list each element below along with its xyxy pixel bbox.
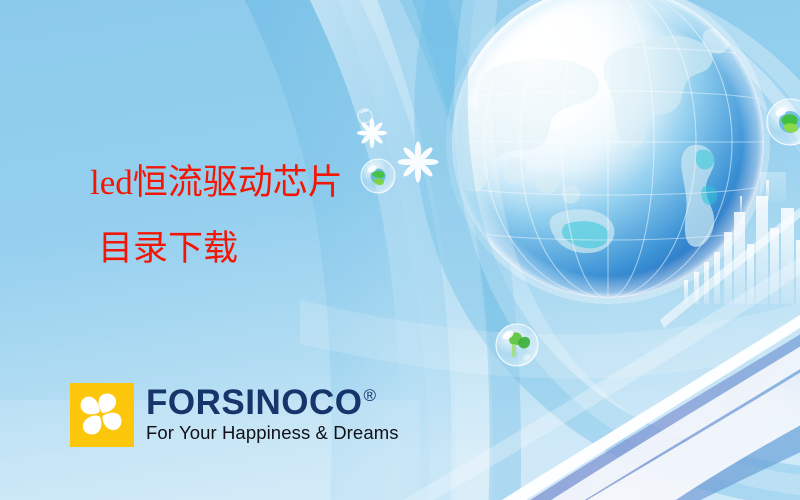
logo-wordmark-block: FORSINOCO ® For Your Happiness & Dreams [146, 383, 399, 444]
bubble-globe-small [361, 159, 395, 193]
logo-name-row: FORSINOCO ® [146, 386, 399, 419]
bubble-tree [496, 324, 538, 366]
registered-trademark-icon: ® [363, 387, 376, 404]
brand-logo-lockup: FORSINOCO ® For Your Happiness & Dreams [70, 383, 399, 447]
banner-canvas: led恒流驱动芯片 目录下载 FORSINOCO ® For Your Hap [0, 0, 800, 500]
logo-company-name: FORSINOCO [146, 386, 362, 419]
logo-tagline: For Your Happiness & Dreams [146, 422, 399, 444]
forsinoco-pinwheel-mark-icon [70, 383, 134, 447]
